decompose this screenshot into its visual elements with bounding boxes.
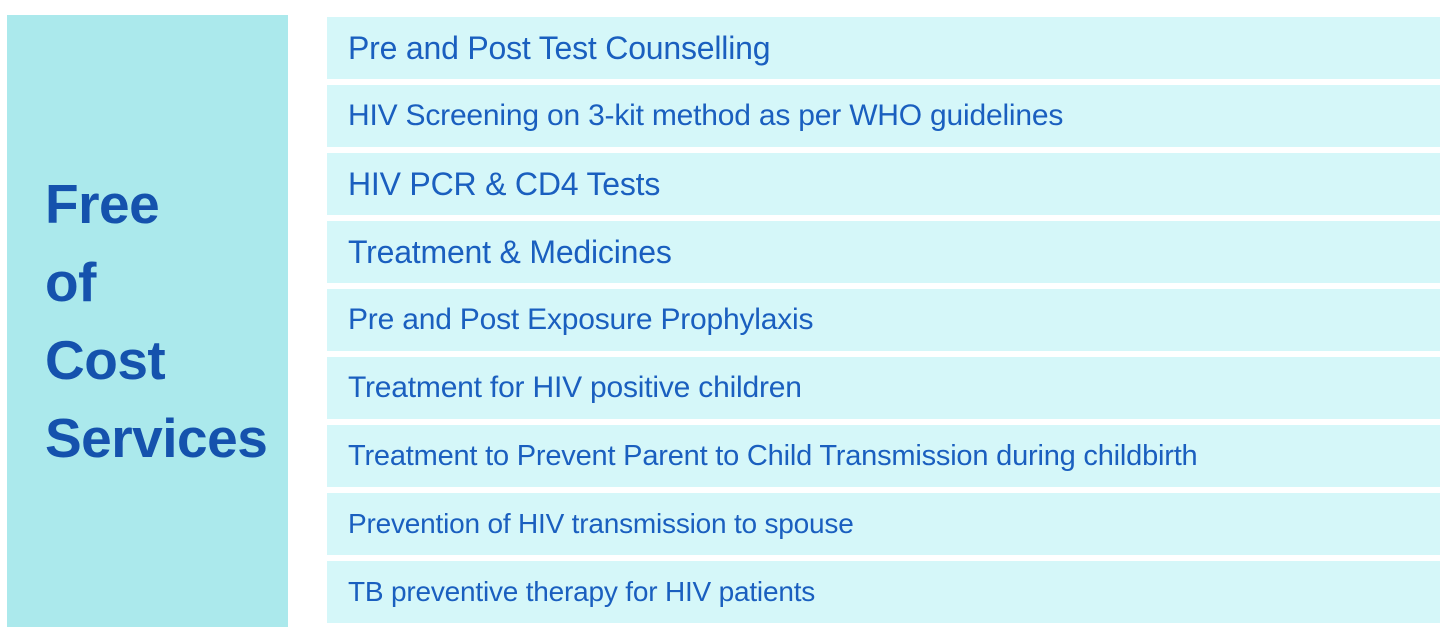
panel-title-line-4: Services xyxy=(45,399,267,477)
panel-title-line-2: of xyxy=(45,243,96,321)
service-row: Prevention of HIV transmission to spouse xyxy=(327,493,1440,555)
service-row: HIV PCR & CD4 Tests xyxy=(327,153,1440,215)
service-label: Pre and Post Exposure Prophylaxis xyxy=(348,305,813,335)
service-row: HIV Screening on 3-kit method as per WHO… xyxy=(327,85,1440,147)
service-label: Treatment for HIV positive children xyxy=(348,373,802,403)
service-row: Treatment for HIV positive children xyxy=(327,357,1440,419)
services-list: Pre and Post Test Counselling HIV Screen… xyxy=(327,17,1440,635)
service-row: TB preventive therapy for HIV patients xyxy=(327,561,1440,623)
service-label: Prevention of HIV transmission to spouse xyxy=(348,510,854,538)
service-row: Treatment & Medicines xyxy=(327,221,1440,283)
service-row: Pre and Post Exposure Prophylaxis xyxy=(327,289,1440,351)
service-label: Pre and Post Test Counselling xyxy=(348,32,770,64)
panel-title-line-3: Cost xyxy=(45,321,165,399)
service-row: Pre and Post Test Counselling xyxy=(327,17,1440,79)
service-label: TB preventive therapy for HIV patients xyxy=(348,578,815,606)
service-row: Treatment to Prevent Parent to Child Tra… xyxy=(327,425,1440,487)
free-of-cost-services-panel: Free of Cost Services xyxy=(7,15,288,627)
service-label: HIV Screening on 3-kit method as per WHO… xyxy=(348,101,1063,131)
service-label: Treatment & Medicines xyxy=(348,236,672,268)
panel-title-line-1: Free xyxy=(45,165,159,243)
service-label: HIV PCR & CD4 Tests xyxy=(348,168,660,200)
service-label: Treatment to Prevent Parent to Child Tra… xyxy=(348,442,1197,471)
slide-canvas: Free of Cost Services Pre and Post Test … xyxy=(0,0,1450,641)
